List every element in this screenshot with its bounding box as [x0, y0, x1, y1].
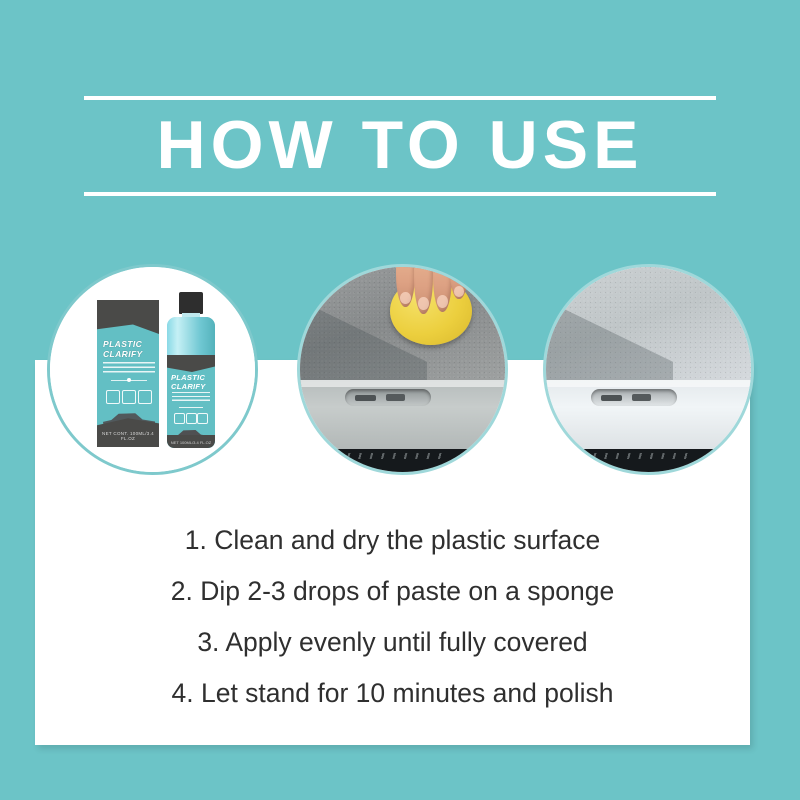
box-description-lines [103, 362, 155, 374]
fingernail-2 [418, 297, 429, 311]
title-rule-top [84, 96, 716, 100]
fingernail-4 [454, 286, 464, 296]
product-bottle: PLASTIC CLARIFY NET 100ML/3.4 FL.OZ [167, 292, 215, 448]
restored-door-lip [546, 380, 751, 387]
bottle-cap [179, 292, 203, 314]
bottle-liquid [167, 317, 215, 355]
label-divider [179, 407, 203, 408]
bottle-footer: NET 100ML/3.4 FL.OZ [167, 435, 215, 448]
door-lower-panel [300, 380, 505, 458]
title-rule-bottom [84, 192, 716, 196]
car-door-restored-scene [546, 267, 751, 472]
title-block: HOW TO USE [0, 96, 800, 196]
label-feature-icon-1 [174, 413, 185, 424]
label-feature-icons [174, 413, 208, 424]
bottle-body: PLASTIC CLARIFY NET 100ML/3.4 FL.OZ [167, 317, 215, 448]
feature-icon-2 [122, 390, 136, 404]
page-title: HOW TO USE [0, 102, 800, 188]
step-item: 1. Clean and dry the plastic surface [35, 515, 750, 566]
box-brand-text: PLASTIC CLARIFY [103, 340, 157, 359]
label-top-band [167, 355, 215, 372]
restored-door-bottom-dark-area [546, 449, 751, 472]
product-scene: PLASTIC CLARIFY NET CONT. 100ML/3.4 FL.O… [50, 267, 255, 472]
car-door-faded-scene [300, 267, 505, 472]
steps-list: 1. Clean and dry the plastic surface 2. … [35, 515, 750, 719]
step-item: 2. Dip 2-3 drops of paste on a sponge [35, 566, 750, 617]
photo-circle-applying [297, 264, 508, 475]
product-box: PLASTIC CLARIFY NET CONT. 100ML/3.4 FL.O… [97, 300, 159, 447]
finger-3 [433, 264, 452, 312]
box-feature-icons [106, 390, 152, 404]
restored-door-upper-panel [546, 267, 751, 386]
box-brand-line1: PLASTIC [103, 339, 142, 349]
box-top-band [97, 300, 159, 334]
restored-door-vents [583, 453, 690, 460]
label-feature-icon-3 [197, 413, 208, 424]
label-brand-line2: CLARIFY [171, 382, 206, 391]
restored-door-lower-panel [546, 380, 751, 458]
label-description-lines [172, 392, 210, 402]
box-divider [111, 380, 147, 381]
box-brand-line2: CLARIFY [103, 349, 143, 359]
step-item: 3. Apply evenly until fully covered [35, 617, 750, 668]
hand [394, 264, 468, 314]
door-bottom-dark-area [300, 449, 505, 472]
door-vents [337, 453, 444, 460]
bottle-net-weight: NET 100ML/3.4 FL.OZ [167, 440, 215, 445]
feature-icon-1 [106, 390, 120, 404]
restored-door-handle-recess [591, 389, 677, 406]
fingernail-1 [400, 292, 411, 304]
box-net-weight: NET CONT. 100ML/3.4 FL.OZ [97, 431, 159, 441]
feature-icon-3 [138, 390, 152, 404]
finger-2 [414, 264, 433, 314]
door-handle-recess [345, 389, 431, 406]
fingernail-3 [437, 295, 448, 308]
photo-circle-result [543, 264, 754, 475]
door-lip [300, 380, 505, 387]
label-feature-icon-2 [186, 413, 197, 424]
finger-4 [450, 264, 468, 299]
finger-1 [396, 264, 415, 307]
photo-circle-product: PLASTIC CLARIFY NET CONT. 100ML/3.4 FL.O… [47, 264, 258, 475]
how-to-use-infographic: HOW TO USE PLASTIC CLARIFY NET CONT. 100… [0, 0, 800, 800]
label-brand-text: PLASTIC CLARIFY [171, 374, 213, 391]
step-item: 4. Let stand for 10 minutes and polish [35, 668, 750, 719]
